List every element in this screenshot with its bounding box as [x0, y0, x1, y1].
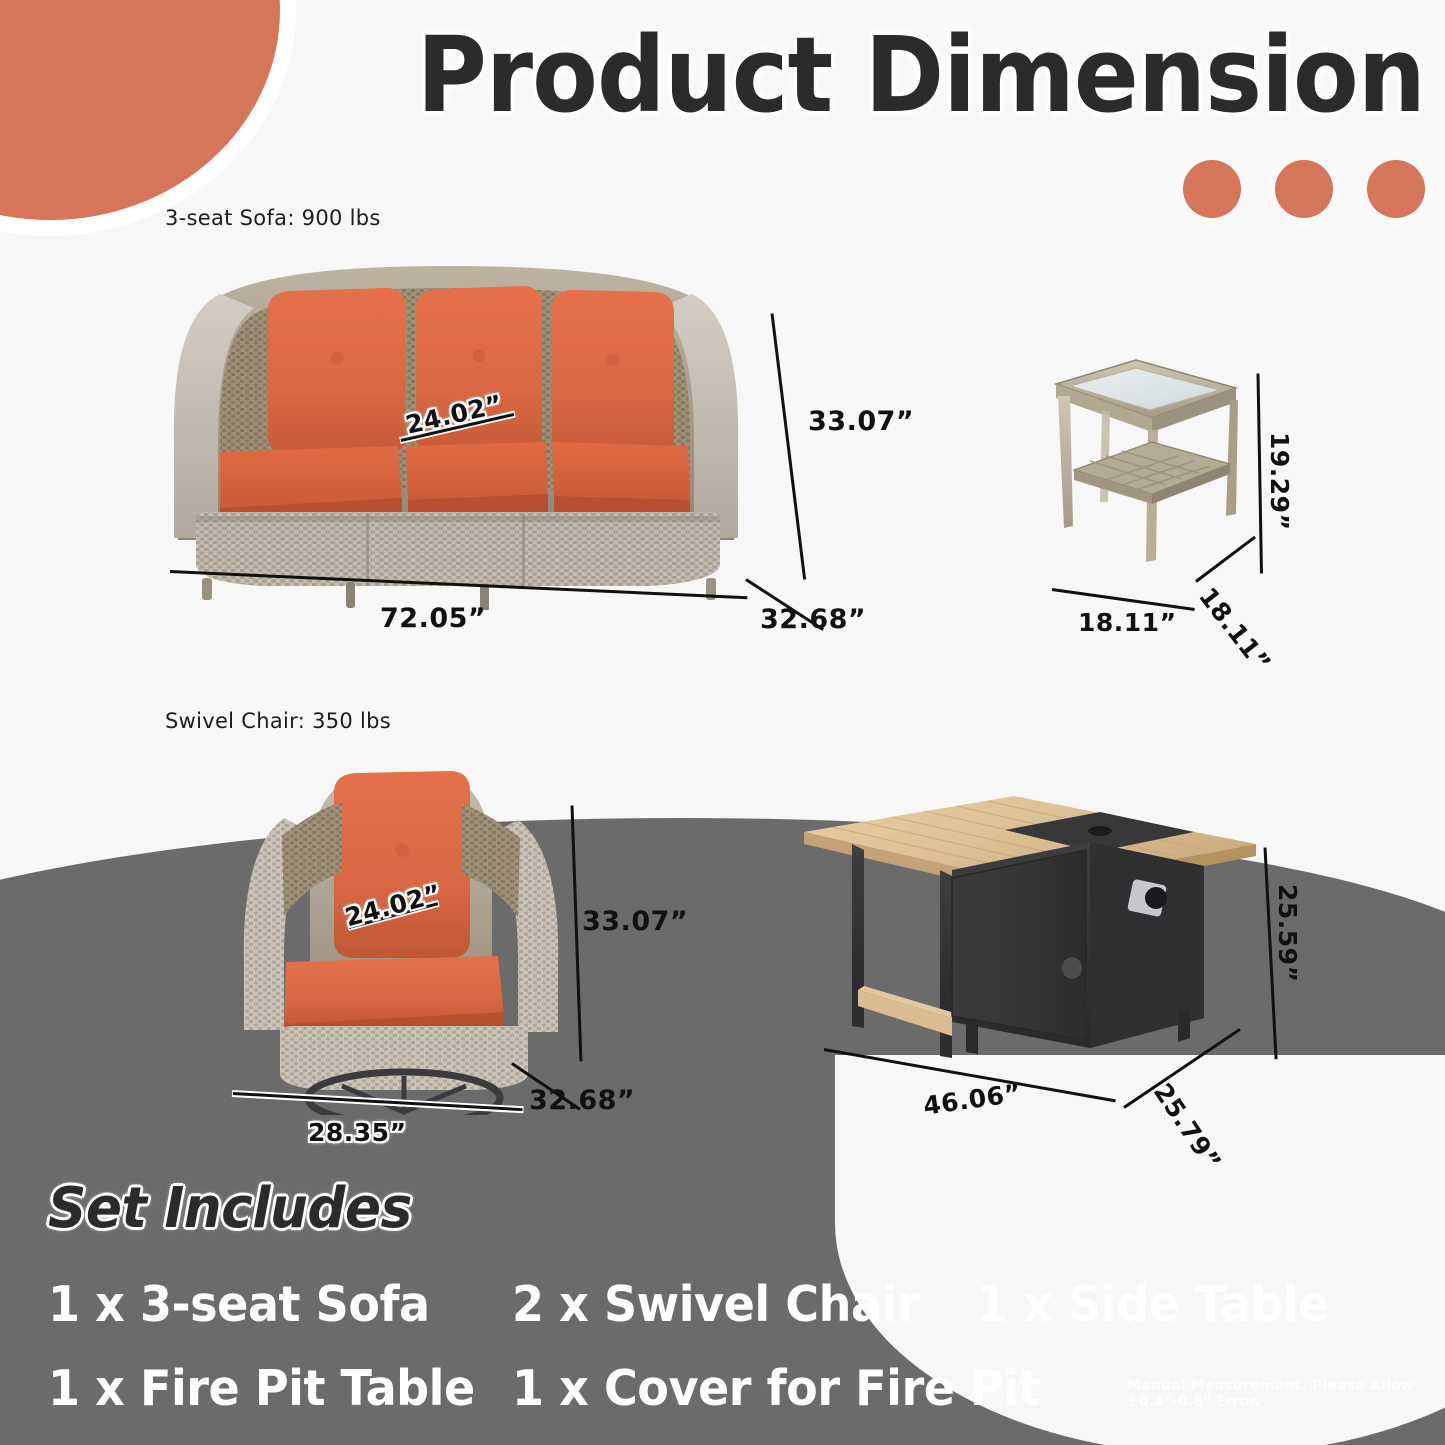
set-item-side-table: 1 x Side Table — [976, 1276, 1329, 1333]
fire-pit-table-illustration — [800, 790, 1260, 1080]
side-table-illustration — [1040, 352, 1250, 592]
page-title: Product Dimension — [114, 14, 1425, 136]
firepit-height-dim: 25.59” — [1273, 884, 1302, 983]
sofa-height-dim: 33.07” — [808, 406, 914, 437]
side-table-depth-dim: 18.11” — [1193, 582, 1277, 677]
set-item-sofa: 1 x 3-seat Sofa — [48, 1276, 430, 1333]
dot-1-icon — [1183, 160, 1241, 218]
swivel-chair-illustration — [222, 740, 562, 1115]
dot-3-icon — [1367, 160, 1425, 218]
side-table-height-dim: 19.29” — [1265, 432, 1294, 531]
sofa-weight-label: 3-seat Sofa: 900 lbs — [165, 206, 381, 230]
dot-2-icon — [1275, 160, 1333, 218]
chair-weight-label: Swivel Chair: 350 lbs — [165, 709, 391, 733]
chair-height-dim: 33.07” — [582, 906, 688, 937]
set-includes-heading: Set Includes — [48, 1176, 412, 1241]
set-item-swivel-chair: 2 x Swivel Chair — [512, 1276, 919, 1333]
chair-depth-dim: 32.68” — [529, 1085, 635, 1116]
sofa-depth-dim: 32.68” — [760, 604, 866, 635]
infographic-canvas: Product Dimension — [0, 0, 1445, 1445]
side-table-height-line — [1257, 373, 1263, 573]
side-table-width-dim: 18.11” — [1078, 608, 1177, 637]
chair-width-dim: 28.35” — [308, 1118, 407, 1147]
dot-group — [1183, 160, 1425, 218]
set-item-fire-pit-cover: 1 x Cover for Fire Pit — [512, 1360, 1040, 1417]
sofa-width-dim: 72.05” — [380, 603, 486, 634]
measurement-disclaimer: Manual Measurement, Please Allow ±0.4"-0… — [1127, 1378, 1445, 1410]
set-item-fire-pit-table: 1 x Fire Pit Table — [48, 1360, 475, 1417]
